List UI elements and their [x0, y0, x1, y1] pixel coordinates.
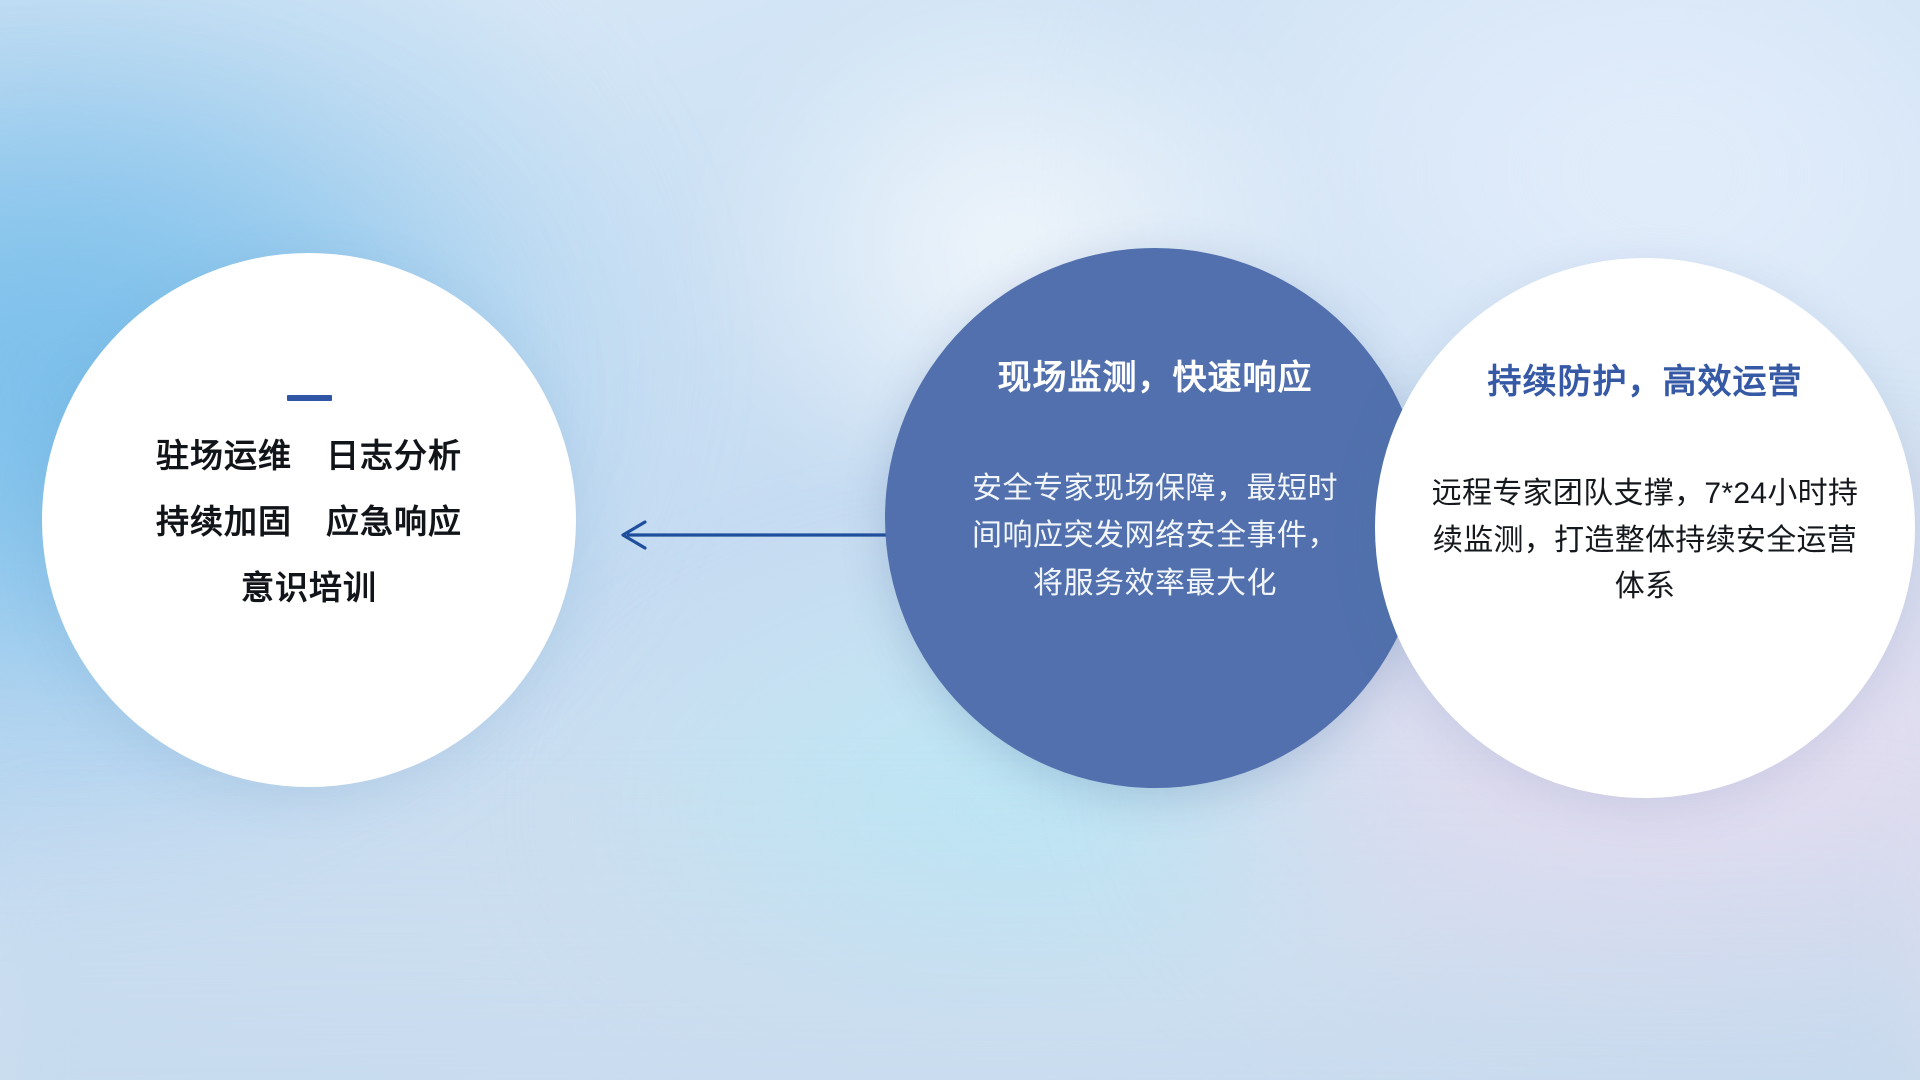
capability-tag: 意识培训 — [241, 571, 377, 604]
left-arrow-icon — [605, 505, 905, 565]
capability-tag-list: 驻场运维 日志分析 持续加固 应急响应 意识培训 — [156, 439, 462, 637]
capability-circle-left[interactable]: 驻场运维 日志分析 持续加固 应急响应 意识培训 — [42, 253, 576, 787]
capability-tag-row: 驻场运维 日志分析 — [156, 439, 462, 472]
capability-tag-row: 持续加固 应急响应 — [156, 505, 462, 538]
capability-tag: 应急响应 — [326, 505, 462, 538]
middle-circle-title: 现场监测，快速响应 — [998, 358, 1313, 399]
capability-tag-row: 意识培训 — [156, 571, 462, 604]
capability-circle-right[interactable]: 持续防护，高效运营 远程专家团队支撑，7*24小时持续监测，打造整体持续安全运营… — [1375, 258, 1915, 798]
right-circle-title: 持续防护，高效运营 — [1488, 362, 1803, 403]
diagram-stage: 驻场运维 日志分析 持续加固 应急响应 意识培训 现场监测，快速响应 安全专家现… — [0, 0, 1920, 1080]
capability-circle-middle[interactable]: 现场监测，快速响应 安全专家现场保障，最短时间响应突发网络安全事件，将服务效率最… — [885, 248, 1425, 788]
capability-tag: 日志分析 — [326, 439, 462, 472]
middle-circle-body: 安全专家现场保障，最短时间响应突发网络安全事件，将服务效率最大化 — [964, 465, 1346, 607]
capability-tag: 持续加固 — [156, 505, 292, 538]
short-dash-icon — [287, 395, 332, 401]
capability-tag: 驻场运维 — [156, 439, 292, 472]
right-circle-body: 远程专家团队支撑，7*24小时持续监测，打造整体持续安全运营体系 — [1426, 471, 1864, 611]
